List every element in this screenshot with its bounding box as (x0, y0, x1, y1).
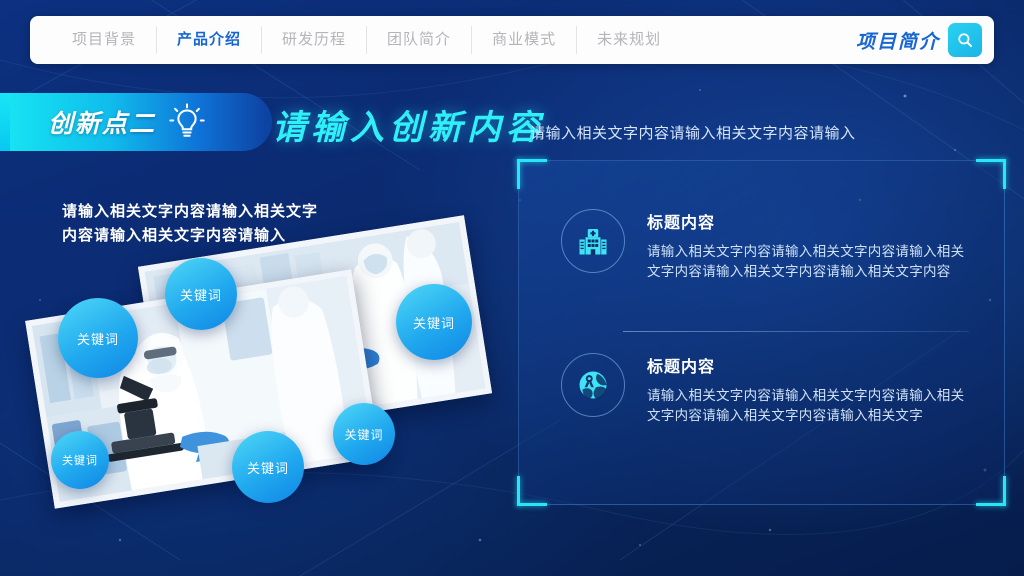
feature-text-0: 标题内容 请输入相关文字内容请输入相关文字内容请输入相关文字内容请输入相关文字内… (647, 209, 969, 282)
slide-canvas: 项目背景 产品介绍 研发历程 团队简介 商业模式 未来规划 项目简介 创新点二 (0, 0, 1024, 576)
nav-item-0[interactable]: 项目背景 (52, 26, 157, 54)
feature-title-0: 标题内容 (647, 209, 969, 233)
nav-item-1[interactable]: 产品介绍 (157, 26, 262, 54)
top-navigation-bar: 项目背景 产品介绍 研发历程 团队简介 商业模式 未来规划 项目简介 (30, 16, 994, 64)
nav-item-list: 项目背景 产品介绍 研发历程 团队简介 商业模式 未来规划 (52, 26, 681, 54)
nav-item-5[interactable]: 未来规划 (577, 26, 681, 54)
nav-item-3[interactable]: 团队简介 (367, 26, 472, 54)
page-subtitle: 请输入相关文字内容请输入相关文字内容请输入 (530, 122, 856, 143)
panel-corner-bottom-left (517, 476, 547, 506)
feature-divider (623, 331, 969, 332)
feature-body-0: 请输入相关文字内容请输入相关文字内容请输入相关文字内容请输入相关文字内容请输入相… (647, 242, 969, 282)
hospital-building-icon (575, 223, 611, 259)
feature-body-1: 请输入相关文字内容请输入相关文字内容请输入相关文字内容请输入相关文字内容请输入相… (647, 386, 969, 426)
globe-ribbon-icon (575, 367, 611, 403)
feature-icon-wrap-0 (561, 209, 625, 273)
brand-title: 项目简介 (856, 27, 940, 54)
keyword-bubble-5[interactable]: 关键词 (51, 431, 109, 489)
feature-item-0: 标题内容 请输入相关文字内容请输入相关文字内容请输入相关文字内容请输入相关文字内… (561, 209, 969, 282)
search-button[interactable] (948, 23, 982, 57)
section-badge: 创新点二 (10, 93, 272, 151)
feature-panel: 标题内容 请输入相关文字内容请输入相关文字内容请输入相关文字内容请输入相关文字内… (518, 160, 1005, 505)
keyword-bubble-3[interactable]: 关键词 (333, 403, 395, 465)
keyword-bubble-4[interactable]: 关键词 (232, 431, 304, 503)
left-paragraph-line-1: 请输入相关文字内容请输入相关文字 (62, 200, 318, 224)
feature-text-1: 标题内容 请输入相关文字内容请输入相关文字内容请输入相关文字内容请输入相关文字内… (647, 353, 969, 426)
panel-corner-top-left (517, 159, 547, 189)
panel-corner-top-right (976, 159, 1006, 189)
nav-right-group: 项目简介 (856, 23, 994, 57)
search-icon (956, 31, 974, 49)
section-badge-label: 创新点二 (48, 104, 156, 140)
lightbulb-icon (164, 99, 210, 145)
feature-title-1: 标题内容 (647, 353, 969, 377)
feature-item-1: 标题内容 请输入相关文字内容请输入相关文字内容请输入相关文字内容请输入相关文字内… (561, 353, 969, 426)
panel-corner-bottom-right (976, 476, 1006, 506)
keyword-bubble-1[interactable]: 关键词 (58, 298, 138, 378)
page-title: 请输入创新内容 (272, 100, 545, 149)
keyword-bubble-0[interactable]: 关键词 (165, 258, 237, 330)
feature-icon-wrap-1 (561, 353, 625, 417)
keyword-bubble-2[interactable]: 关键词 (396, 284, 472, 360)
photo-collage: 关键词 关键词 关键词 关键词 关键词 关键词 (28, 232, 508, 512)
nav-item-4[interactable]: 商业模式 (472, 26, 577, 54)
nav-item-2[interactable]: 研发历程 (262, 26, 367, 54)
